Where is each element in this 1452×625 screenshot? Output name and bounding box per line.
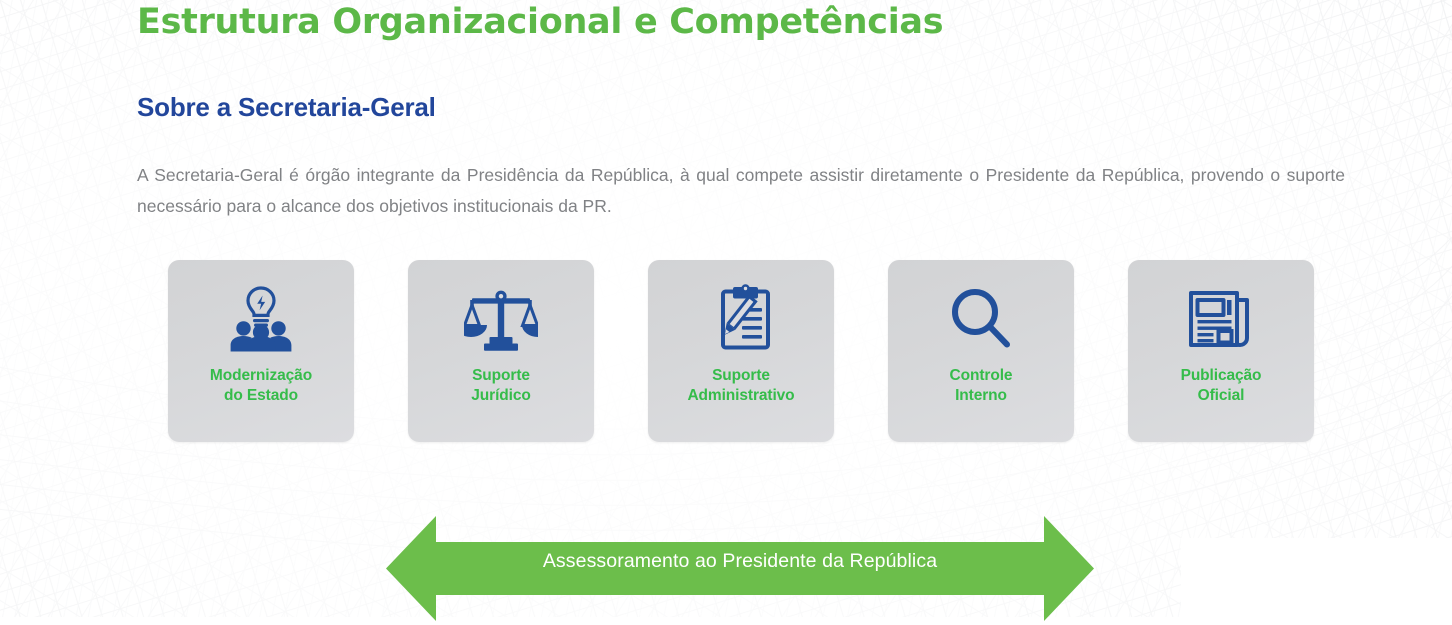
card-label-line2: Interno <box>950 386 1013 406</box>
scales-justice-icon <box>464 276 538 362</box>
slide-canvas: Estrutura Organizacional e Competências … <box>0 0 1452 625</box>
body-paragraph: A Secretaria-Geral é órgão integrante da… <box>137 160 1345 222</box>
slide-content: Estrutura Organizacional e Competências … <box>0 0 1452 625</box>
people-idea-icon <box>222 276 300 362</box>
double-headed-arrow-shape <box>386 512 1094 625</box>
card-label: Publicação Oficial <box>1181 366 1262 406</box>
card-label: Suporte Administrativo <box>687 366 794 406</box>
page-title: Estrutura Organizacional e Competências <box>137 2 943 42</box>
card-label-line2: Oficial <box>1181 386 1262 406</box>
card-label-line1: Controle <box>950 367 1013 384</box>
card-label-line2: Administrativo <box>687 386 794 406</box>
card-label-line1: Modernização <box>210 367 312 384</box>
clipboard-pencil-icon <box>704 276 778 362</box>
lower-right-white-panel <box>1181 538 1452 625</box>
card-label: Controle Interno <box>950 366 1013 406</box>
card-controle-interno[interactable]: Controle Interno <box>888 260 1074 442</box>
advisory-arrow-banner: Assessoramento ao Presidente da Repúblic… <box>386 512 1094 625</box>
section-heading: Sobre a Secretaria-Geral <box>137 92 436 123</box>
card-label: Modernização do Estado <box>210 366 312 406</box>
competency-card-row: Modernização do Estado <box>168 260 1314 442</box>
card-label-line2: Jurídico <box>471 386 531 406</box>
card-modernizacao-do-estado[interactable]: Modernização do Estado <box>168 260 354 442</box>
card-label-line1: Suporte <box>712 367 770 384</box>
card-suporte-administrativo[interactable]: Suporte Administrativo <box>648 260 834 442</box>
card-label: Suporte Jurídico <box>471 366 531 406</box>
card-publicacao-oficial[interactable]: Publicação Oficial <box>1128 260 1314 442</box>
card-suporte-juridico[interactable]: Suporte Jurídico <box>408 260 594 442</box>
card-label-line1: Suporte <box>472 367 530 384</box>
card-label-line1: Publicação <box>1181 367 1262 384</box>
newspaper-icon <box>1185 276 1257 362</box>
card-label-line2: do Estado <box>210 386 312 406</box>
magnifying-glass-icon <box>945 276 1017 362</box>
